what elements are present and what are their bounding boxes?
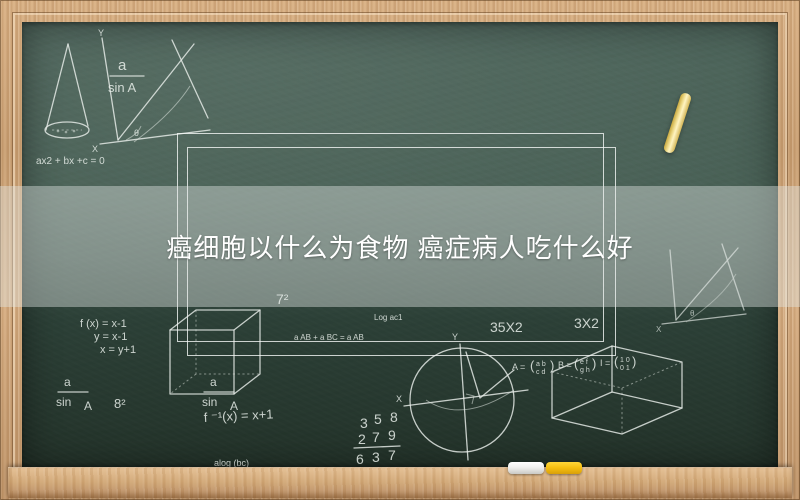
svg-text:): ) (632, 354, 636, 369)
svg-text:5: 5 (374, 411, 382, 427)
fraction-a-sinA-bottomleft: a sin A (56, 375, 92, 413)
svg-text:(: ( (574, 356, 579, 371)
svg-text:X: X (656, 325, 662, 334)
svg-text:I =: I = (600, 358, 610, 368)
svg-text:sin A: sin A (108, 80, 137, 95)
svg-text:X: X (396, 394, 402, 404)
svg-text:a: a (64, 375, 71, 389)
svg-text:θ: θ (690, 309, 695, 318)
svg-text:x = y+1: x = y+1 (100, 344, 136, 356)
matrix-expressions: A = ( a b c d ) B = ( e f g h ) I = ( 1 … (512, 354, 636, 376)
svg-text:A: A (84, 399, 92, 413)
svg-text:a: a (210, 375, 217, 389)
page-title: 癌细胞以什么为食物 癌症病人吃什么好 (0, 186, 800, 307)
svg-text:sin: sin (56, 395, 71, 409)
svg-text:3: 3 (372, 449, 380, 465)
cone-drawing (45, 44, 89, 138)
svg-text:9: 9 (388, 427, 396, 443)
svg-text:a: a (118, 57, 127, 74)
svg-text:c d: c d (536, 369, 545, 376)
svg-text:1 0: 1 0 (620, 357, 630, 364)
svg-text:A =: A = (512, 362, 525, 372)
svg-text:0 1: 0 1 (620, 365, 630, 372)
svg-text:2: 2 (358, 431, 366, 447)
svg-text:θ: θ (134, 128, 139, 138)
chalk-ledge (8, 467, 792, 498)
function-equations: f (x) = x-1 y = x-1 x = y+1 (80, 318, 136, 356)
svg-text:6: 6 (356, 451, 364, 467)
chalkboard-banner: a sin A ax2 + bx +c = 0 Y X θ (0, 0, 800, 500)
quadratic-equation: ax2 + bx +c = 0 (36, 156, 105, 167)
svg-text:(: ( (530, 358, 535, 373)
svg-text:): ) (592, 356, 596, 371)
svg-text:7: 7 (388, 447, 396, 463)
svg-text:8: 8 (390, 409, 398, 425)
white-chalk-stick (508, 462, 544, 474)
svg-text:f (x) = x-1: f (x) = x-1 (80, 318, 127, 330)
svg-text:7: 7 (372, 429, 380, 445)
yellow-chalk-stick (546, 462, 582, 474)
svg-text:g h: g h (580, 367, 590, 374)
svg-text:3: 3 (360, 415, 368, 431)
fraction-a-sinA-topleft: a sin A (108, 57, 144, 95)
power-8-squared: 8² (114, 396, 126, 411)
svg-text:X: X (92, 144, 98, 154)
svg-text:sin: sin (202, 395, 217, 409)
digit-grid: 3 5 8 2 7 9 6 3 7 (354, 409, 400, 467)
svg-text:y = x-1: y = x-1 (94, 331, 127, 343)
svg-text:(: ( (614, 354, 619, 369)
svg-text:Y: Y (98, 28, 104, 38)
svg-text:a b: a b (536, 361, 546, 368)
inverse-function: f ⁻¹(x) = x+1 (203, 406, 273, 425)
